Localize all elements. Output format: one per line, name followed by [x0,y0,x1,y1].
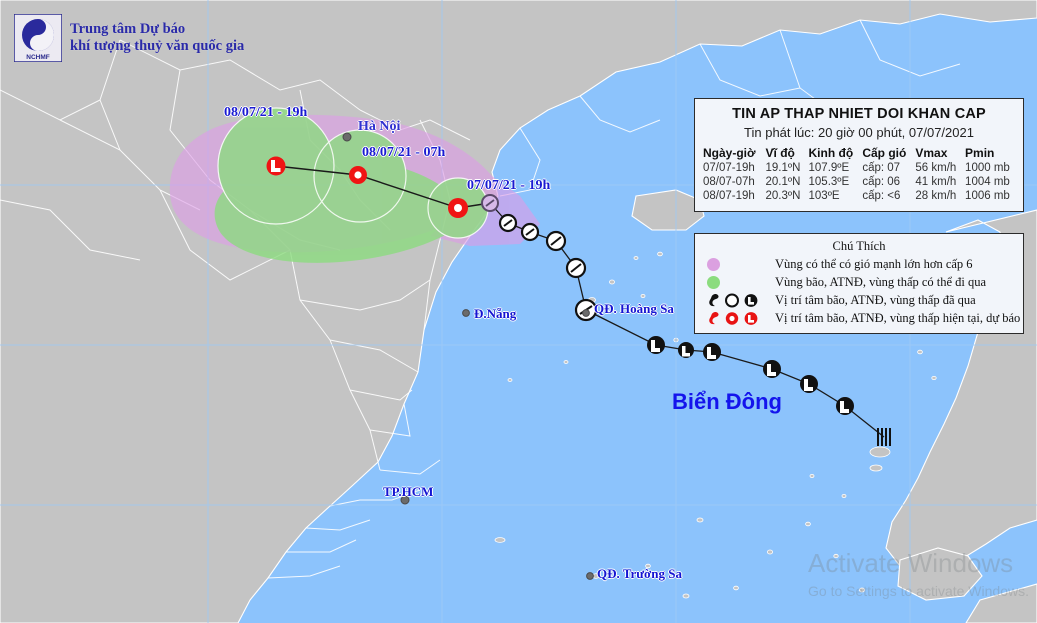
past-hollow-marker [500,215,516,231]
cell-lon: 105.3ºE [807,175,861,189]
col-pmin: Pmin [963,145,1017,161]
red-storm-symbols-icon [701,311,775,326]
table-row: 08/07-19h 20.3ºN 103ºE cấp: <6 28 km/h 1… [701,189,1017,203]
table-row: 07/07-19h 19.1ºN 107.9ºE cấp: 07 56 km/h… [701,161,1017,175]
forecast-table: Ngày-giờ Vĩ độ Kinh độ Cấp gió Vmax Pmin… [701,145,1017,203]
org-name-line1: Trung tâm Dự báo [70,21,244,38]
cell-datetime: 08/07-19h [701,189,764,203]
track-label-0: 08/07/21 - 19h [224,105,307,121]
track-label-2: 07/07/21 - 19h [467,178,550,194]
legend-label: Vị trí tâm bão, ATNĐ, vùng thấp đã qua [775,293,976,308]
table-row: 08/07-07h 20.1ºN 105.3ºE cấp: 06 41 km/h… [701,175,1017,189]
col-vmax: Vmax [913,145,963,161]
track-label-1: 08/07/21 - 07h [362,145,445,161]
col-lon: Kinh độ [807,145,861,161]
black-storm-symbols-icon [701,293,775,308]
nchmf-logo: NCHMF Trung tâm Dự báo khí tượng thuỷ vă… [14,14,244,62]
cell-pmin: 1006 mb [963,189,1017,203]
cell-lat: 20.3ºN [764,189,807,203]
weather-map-screenshot: NCHMF Trung tâm Dự báo khí tượng thuỷ vă… [0,0,1037,623]
past-hollow-marker [567,259,585,277]
cell-lon: 107.9ºE [807,161,861,175]
past-hollow-marker [482,195,498,211]
cell-pmin: 1004 mb [963,175,1017,189]
past-low-marker [647,336,665,354]
label-truong-sa: QĐ. Trường Sa [597,566,682,582]
cell-vmax: 56 km/h [913,161,963,175]
label-bien-dong: Biển Đông [672,389,782,415]
storm-info-panel: TIN AP THAP NHIET DOI KHAN CAP Tin phát … [694,98,1024,212]
past-hollow-marker [522,224,538,240]
col-wind: Cấp gió [860,145,913,161]
cell-wind: cấp: 07 [860,161,913,175]
legend-item-past-positions: Vị trí tâm bão, ATNĐ, vùng thấp đã qua [701,293,1017,308]
cell-lat: 20.1ºN [764,175,807,189]
legend-item-current-positions: Vị trí tâm bão, ATNĐ, vùng thấp hiện tại… [701,311,1017,326]
label-tp-hcm: TP.HCM [383,484,433,500]
pink-circle-icon [701,258,775,271]
info-title: TIN AP THAP NHIET DOI KHAN CAP [701,106,1017,122]
legend-item-wind-area: Vùng có thể có gió mạnh lớn hơn cấp 6 [701,257,1017,272]
col-datetime: Ngày-giờ [701,145,764,161]
logo-abbr: NCHMF [26,54,49,61]
past-low-marker [836,397,854,415]
label-da-nang: Đ.Nẵng [474,306,516,322]
org-name-line2: khí tượng thuỷ văn quốc gia [70,38,244,55]
legend-label: Vùng có thể có gió mạnh lớn hơn cấp 6 [775,257,973,272]
info-issued-time: Tin phát lúc: 20 giờ 00 phút, 07/07/2021 [701,125,1017,140]
cell-wind: cấp: <6 [860,189,913,203]
cell-wind: cấp: 06 [860,175,913,189]
label-hoang-sa: QĐ. Hoàng Sa [594,301,674,317]
forecast-marker-2 [349,166,367,184]
legend-label: Vùng bão, ATNĐ, vùng thấp có thể đi qua [775,275,986,290]
col-lat: Vĩ độ [764,145,807,161]
label-hanoi: Hà Nội [358,119,400,135]
cell-vmax: 28 km/h [913,189,963,203]
map-legend: Chú Thích Vùng có thể có gió mạnh lớn hơ… [694,233,1024,334]
cell-datetime: 08/07-07h [701,175,764,189]
legend-title: Chú Thích [701,239,1017,254]
legend-item-passage-area: Vùng bão, ATNĐ, vùng thấp có thể đi qua [701,275,1017,290]
table-header-row: Ngày-giờ Vĩ độ Kinh độ Cấp gió Vmax Pmin [701,145,1017,161]
cell-pmin: 1000 mb [963,161,1017,175]
past-low-marker [703,343,721,361]
forecast-marker-1 [448,198,468,218]
cell-lat: 19.1ºN [764,161,807,175]
green-circle-icon [701,276,775,289]
past-hollow-marker [547,232,565,250]
org-name: Trung tâm Dự báo khí tượng thuỷ văn quốc… [70,21,244,55]
nchmf-logo-icon: NCHMF [14,14,62,62]
cell-lon: 103ºE [807,189,861,203]
past-low-marker [763,360,781,378]
past-low-marker [800,375,818,393]
legend-label: Vị trí tâm bão, ATNĐ, vùng thấp hiện tại… [775,311,1020,326]
cell-datetime: 07/07-19h [701,161,764,175]
forecast-marker-3 [267,157,286,176]
cell-vmax: 41 km/h [913,175,963,189]
past-low-marker [678,342,694,358]
